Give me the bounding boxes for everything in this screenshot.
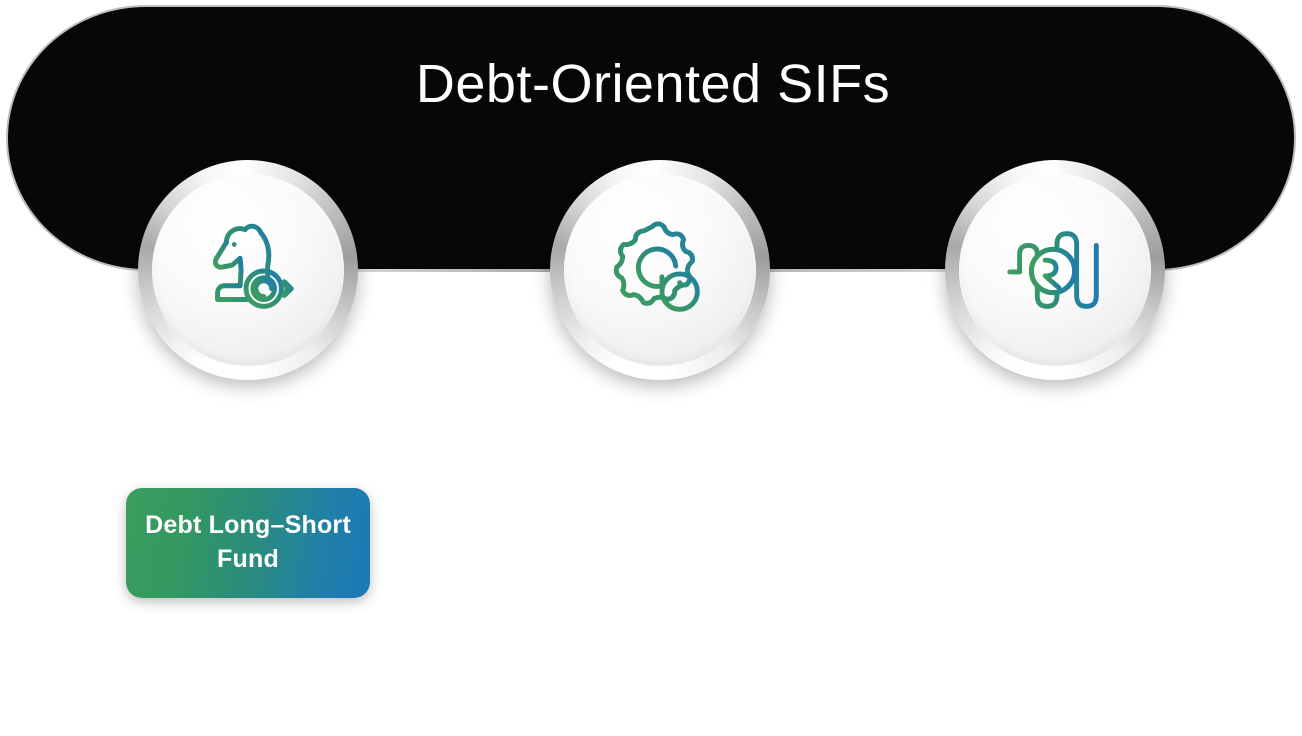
fund-pill-debt-long-short[interactable]: Debt Long–Short Fund [126,488,370,598]
chess-knight-target-icon [189,211,307,329]
gear-info-icon [601,211,719,329]
fund-pill-label: Debt Long–Short Fund [144,509,352,577]
infographic-canvas: Debt-Oriented SIFs [0,0,1302,736]
column-heading-strategy: Strategy [88,426,408,464]
column-strategy: Strategy Debt Long–Short Fund [83,160,413,598]
icon-circle-strategy [138,160,358,380]
rupee-waveform-icon [996,211,1114,329]
column-how-it-works: How It Works Invests in debt SIF instrum… [495,160,825,652]
icon-circle-redemption-frequency [945,160,1165,380]
columns-container: Strategy Debt Long–Short Fund [0,0,1302,736]
column-heading-redemption-frequency: Redemption Frequency [895,426,1215,501]
column-body-redemption-frequency: Chosen and mandated by the AMC. [930,519,1180,587]
column-redemption-frequency: Redemption Frequency Chosen and mandated… [890,160,1220,587]
icon-circle-how-it-works [550,160,770,380]
column-heading-how-it-works: How It Works [500,426,820,464]
column-body-how-it-works: Invests in debt SIF instruments that go … [495,482,825,652]
